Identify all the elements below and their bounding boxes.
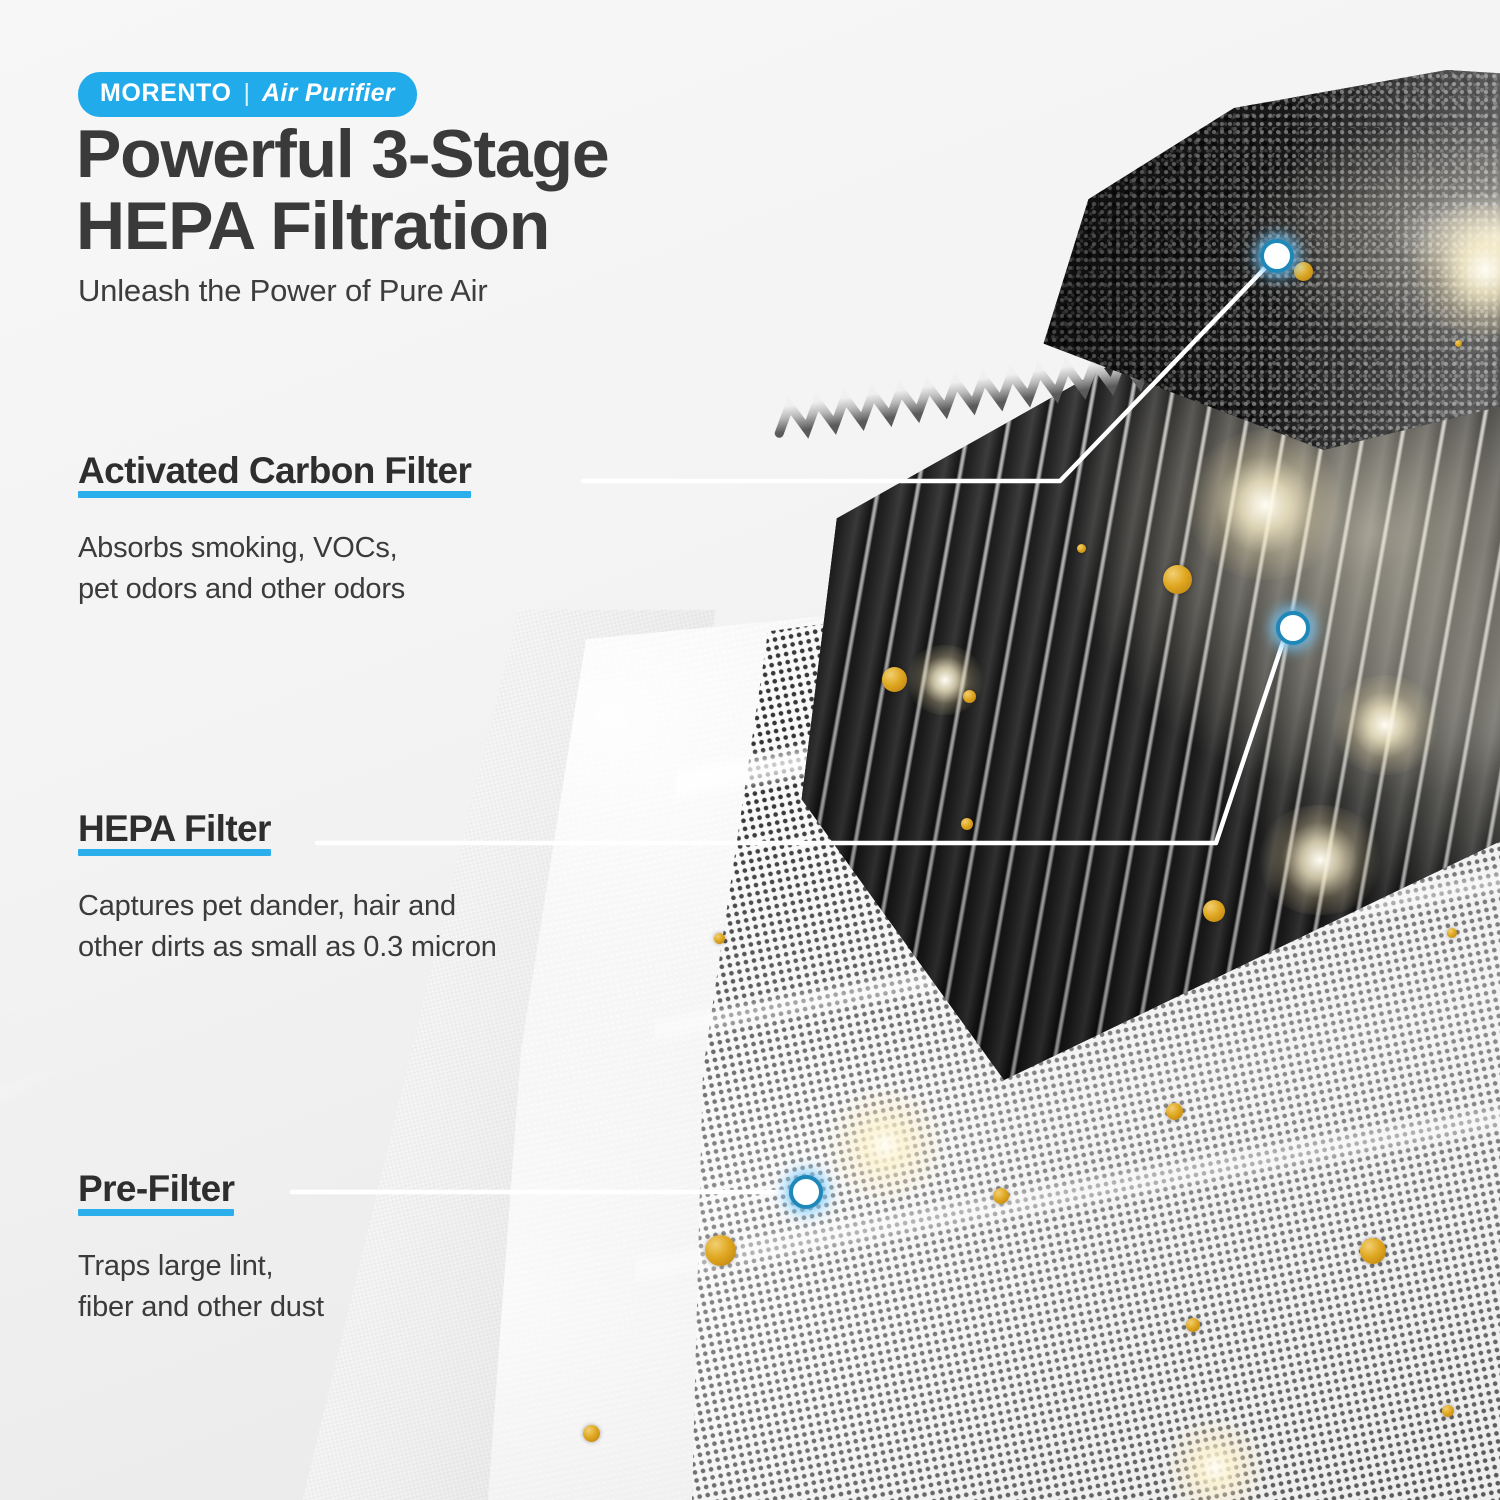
- dust-particle: [1203, 900, 1225, 922]
- dust-particle: [1186, 1318, 1200, 1332]
- headline-line-1: Powerful 3-Stage: [76, 118, 836, 190]
- description-line: Captures pet dander, hair and: [78, 886, 497, 927]
- page-subtitle: Unleash the Power of Pure Air: [78, 273, 487, 309]
- stage-title-activated-carbon: Activated Carbon Filter: [78, 450, 471, 496]
- stage-activated-carbon: Activated Carbon Filter Absorbs smoking,…: [78, 450, 471, 610]
- callout-marker-pre-filter[interactable]: [789, 1175, 823, 1209]
- badge-separator: |: [244, 79, 251, 108]
- infographic-canvas: MORENTO | Air Purifier Powerful 3-Stage …: [0, 0, 1500, 1500]
- stage-description-hepa: Captures pet dander, hair and other dirt…: [78, 886, 497, 968]
- description-line: other dirts as small as 0.3 micron: [78, 927, 497, 968]
- description-line: pet odors and other odors: [78, 569, 471, 610]
- dust-particle: [714, 933, 725, 944]
- headline-line-2: HEPA Filtration: [76, 190, 836, 262]
- description-line: fiber and other dust: [78, 1287, 324, 1328]
- dust-particle: [1455, 340, 1462, 347]
- light-glint: [905, 645, 985, 715]
- stage-description-pre-filter: Traps large lint, fiber and other dust: [78, 1246, 324, 1328]
- dust-particle: [705, 1235, 736, 1266]
- callout-marker-activated-carbon[interactable]: [1260, 239, 1294, 273]
- dust-particle: [1294, 262, 1313, 281]
- dust-particle: [1077, 544, 1086, 553]
- light-glint: [820, 1090, 950, 1200]
- brand-badge: MORENTO | Air Purifier: [78, 72, 417, 117]
- stage-pre-filter: Pre-Filter Traps large lint, fiber and o…: [78, 1168, 324, 1328]
- stage-title-hepa: HEPA Filter: [78, 808, 271, 854]
- page-title: Powerful 3-Stage HEPA Filtration: [76, 118, 836, 262]
- description-line: Traps large lint,: [78, 1246, 324, 1287]
- dust-particle: [1442, 1405, 1454, 1417]
- dust-particle: [963, 690, 976, 703]
- dust-particle: [1360, 1238, 1386, 1264]
- dust-particle: [1447, 928, 1457, 938]
- dust-particle: [961, 818, 973, 830]
- stage-title-pre-filter: Pre-Filter: [78, 1168, 234, 1214]
- description-line: Absorbs smoking, VOCs,: [78, 528, 471, 569]
- dust-particle: [1163, 565, 1192, 594]
- dust-particle: [882, 667, 907, 692]
- product-category: Air Purifier: [262, 79, 395, 108]
- stage-description-activated-carbon: Absorbs smoking, VOCs, pet odors and oth…: [78, 528, 471, 610]
- callout-marker-hepa[interactable]: [1276, 611, 1310, 645]
- brand-name: MORENTO: [100, 79, 232, 108]
- dust-particle: [993, 1188, 1009, 1204]
- light-glint: [1330, 675, 1440, 775]
- dust-particle: [583, 1425, 600, 1442]
- light-glint: [1255, 805, 1385, 915]
- dust-particle: [1166, 1103, 1183, 1120]
- stage-hepa: HEPA Filter Captures pet dander, hair an…: [78, 808, 497, 968]
- light-glint: [1185, 430, 1345, 580]
